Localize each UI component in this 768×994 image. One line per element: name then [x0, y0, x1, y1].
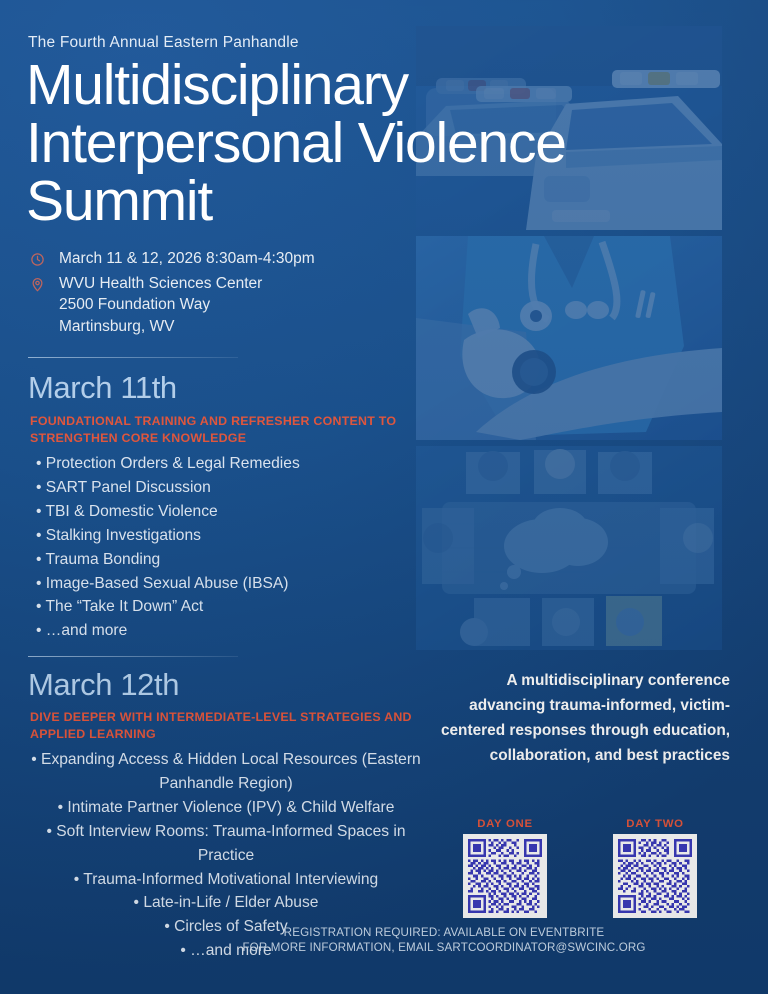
eyebrow-text: The Fourth Annual Eastern Panhandle — [28, 34, 299, 52]
day-two-subheading: DIVE DEEPER WITH INTERMEDIATE-LEVEL STRA… — [30, 709, 422, 742]
footer-note: REGISTRATION REQUIRED: AVAILABLE ON EVEN… — [0, 926, 768, 955]
list-item: • Image-Based Sexual Abuse (IBSA) — [36, 572, 436, 596]
qr-code-day-two[interactable] — [613, 834, 697, 918]
event-location-text: WVU Health Sciences Center 2500 Foundati… — [59, 273, 262, 338]
qr-day-one-label: DAY ONE — [453, 818, 557, 830]
list-item: • The “Take It Down” Act — [36, 595, 436, 619]
event-date-text: March 11 & 12, 2026 8:30am-4:30pm — [59, 248, 315, 270]
event-date-row: March 11 & 12, 2026 8:30am-4:30pm — [30, 248, 400, 270]
map-pin-icon — [30, 277, 45, 292]
page-title: Multidisciplinary Interpersonal Violence… — [26, 56, 666, 230]
list-item: • Soft Interview Rooms: Trauma-Informed … — [24, 820, 428, 868]
footer-line-2: FOR MORE INFORMATION, EMAIL SARTCOORDINA… — [0, 941, 768, 956]
footer-line-1: REGISTRATION REQUIRED: AVAILABLE ON EVEN… — [0, 926, 768, 941]
list-item: • Protection Orders & Legal Remedies — [36, 452, 436, 476]
location-line-3: Martinsburg, WV — [59, 318, 174, 335]
day-one-session-list: • Protection Orders & Legal Remedies • S… — [36, 452, 436, 643]
list-item: • Intimate Partner Violence (IPV) & Chil… — [24, 796, 428, 820]
list-item: • …and more — [36, 619, 436, 643]
location-line-1: WVU Health Sciences Center — [59, 275, 262, 292]
event-meta: March 11 & 12, 2026 8:30am-4:30pm WVU He… — [30, 248, 400, 340]
event-location-row: WVU Health Sciences Center 2500 Foundati… — [30, 273, 400, 338]
list-item: • Late-in-Life / Elder Abuse — [24, 891, 428, 915]
list-item: • SART Panel Discussion — [36, 476, 436, 500]
poster-canvas: The Fourth Annual Eastern Panhandle Mult… — [0, 0, 768, 994]
qr-code-day-one[interactable] — [463, 834, 547, 918]
list-item: • Trauma Bonding — [36, 548, 436, 572]
list-item: • Expanding Access & Hidden Local Resour… — [24, 748, 428, 796]
location-line-2: 2500 Foundation Way — [59, 296, 210, 313]
day-one-heading: March 11th — [28, 370, 177, 406]
clock-icon — [30, 252, 45, 267]
day-two-heading: March 12th — [28, 667, 179, 703]
list-item: • Stalking Investigations — [36, 524, 436, 548]
qr-day-two-label: DAY TWO — [603, 818, 707, 830]
day-one-subheading: FOUNDATIONAL TRAINING AND REFRESHER CONT… — [30, 413, 422, 446]
divider-two — [28, 656, 238, 657]
list-item: • Trauma-Informed Motivational Interview… — [24, 868, 428, 892]
list-item: • TBI & Domestic Violence — [36, 500, 436, 524]
qr-zone: DAY ONE DAY TWO — [430, 818, 730, 918]
conference-blurb: A multidisciplinary conference advancing… — [430, 668, 730, 768]
nurse-holding-hand-photo — [416, 236, 722, 440]
qr-codes — [430, 834, 730, 918]
group-meeting-table-photo — [416, 446, 722, 650]
divider-one — [28, 357, 238, 358]
qr-labels: DAY ONE DAY TWO — [430, 818, 730, 830]
